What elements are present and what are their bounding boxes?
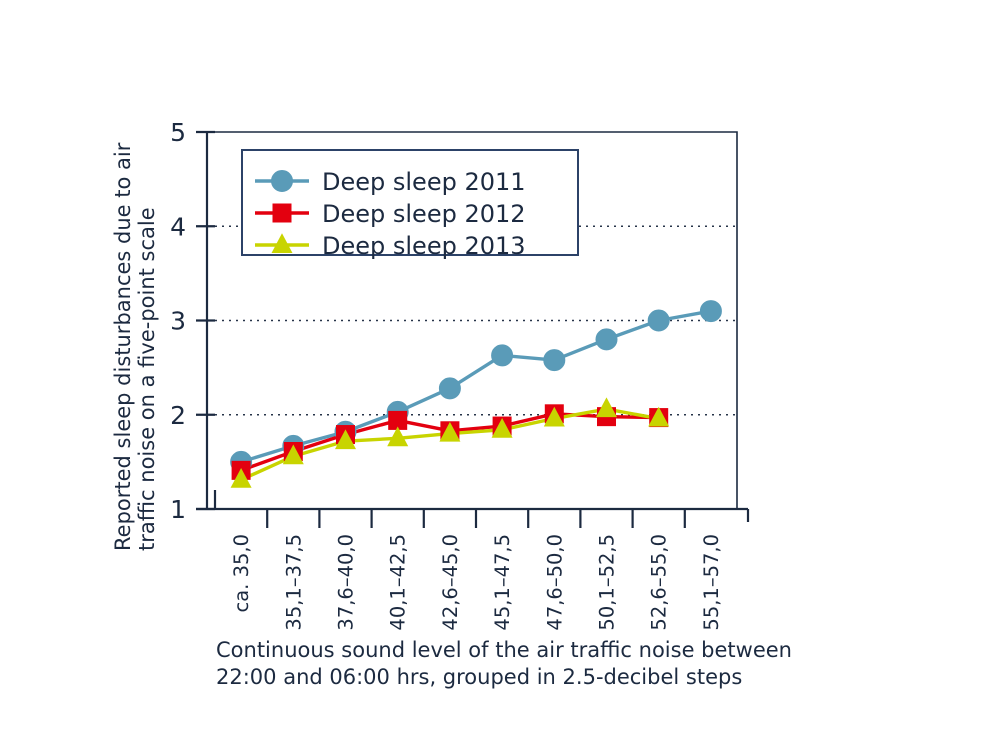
y-tick-label-5: 5 [170,118,186,147]
legend-label-2: Deep sleep 2013 [322,232,526,260]
data-point-circle [492,345,513,366]
chart-legend: Deep sleep 2011Deep sleep 2012Deep sleep… [242,150,578,260]
x-tick-label-3: 40,1–42,5 [387,534,410,631]
x-tick-label-7: 50,1–52,5 [596,534,619,631]
data-point-circle [648,310,669,331]
x-axis-title-line-1: 22:00 and 06:00 hrs, grouped in 2.5-deci… [216,665,742,689]
legend-label-1: Deep sleep 2012 [322,200,526,228]
y-tick-label-2: 2 [170,401,186,430]
data-point-circle [439,378,460,399]
y-tick-label-4: 4 [170,212,186,241]
x-tick-label-9: 55,1–57,0 [700,534,723,631]
x-tick-label-2: 37,6–40,0 [335,534,358,631]
legend-label-0: Deep sleep 2011 [322,168,526,196]
line-chart-svg: 12345 ca. 35,035,1–37,537,6–40,040,1–42,… [0,0,1000,750]
x-tick-label-6: 47,6–50,0 [543,534,566,631]
data-point-circle [544,350,565,371]
y-axis-title-line-0: Reported sleep disturbances due to air [111,142,135,551]
y-tick-label-1: 1 [170,495,186,524]
data-point-circle [596,329,617,350]
x-tick-label-0: ca. 35,0 [230,534,253,613]
x-tick-label-5: 45,1–47,5 [491,534,514,631]
chart-figure: 12345 ca. 35,035,1–37,537,6–40,040,1–42,… [0,0,1000,750]
x-tick-label-1: 35,1–37,5 [282,534,305,631]
x-tick-label-8: 52,6–55,0 [648,534,671,631]
legend-square-marker [273,204,292,223]
legend-circle-marker [272,171,293,192]
x-tick-label-4: 42,6–45,0 [439,534,462,631]
y-tick-label-3: 3 [170,307,186,336]
data-point-circle [700,301,721,322]
y-axis-title-line-1: traffic noise on a five-point scale [135,207,159,551]
x-axis-title-line-0: Continuous sound level of the air traffi… [216,638,792,662]
legend-entries: Deep sleep 2011Deep sleep 2012Deep sleep… [255,168,526,260]
